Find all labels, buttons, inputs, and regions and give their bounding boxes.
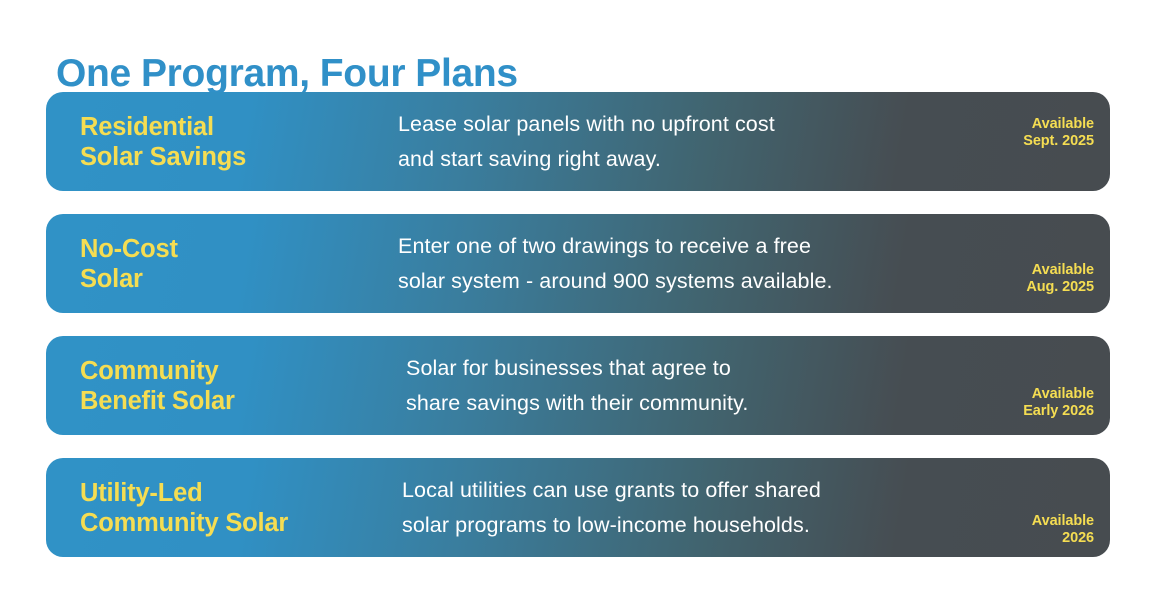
plan-card-title: Community Benefit Solar	[46, 356, 396, 416]
plan-card-title: Utility-Led Community Solar	[46, 478, 396, 538]
plan-card[interactable]: Community Benefit Solar Solar for busine…	[46, 336, 1110, 435]
plan-card-title: No-Cost Solar	[46, 234, 396, 294]
plan-card-availability-badge: Available Early 2026	[978, 352, 1110, 420]
page-title-word-four: Four	[320, 52, 405, 95]
page-title-word-one: One	[56, 52, 131, 95]
plan-card-description: Lease solar panels with no upfront cost …	[396, 107, 978, 177]
plan-card-availability-badge: Available 2026	[978, 469, 1110, 547]
plan-card-description: Local utilities can use grants to offer …	[396, 473, 978, 543]
plan-card-title: Residential Solar Savings	[46, 112, 396, 172]
plan-card-description: Solar for businesses that agree to share…	[396, 351, 978, 421]
plan-card[interactable]: Residential Solar Savings Lease solar pa…	[46, 92, 1110, 191]
page-title-word-program: Program,	[141, 52, 310, 95]
plan-card[interactable]: No-Cost Solar Enter one of two drawings …	[46, 214, 1110, 313]
plan-card-availability-badge: Available Aug. 2025	[978, 232, 1110, 296]
infographic-page: OneProgram,FourPlans Residential Solar S…	[0, 0, 1155, 616]
plan-card[interactable]: Utility-Led Community Solar Local utilit…	[46, 458, 1110, 557]
page-title-word-plans: Plans	[415, 52, 518, 95]
plan-card-availability-badge: Available Sept. 2025	[978, 116, 1110, 168]
plan-card-description: Enter one of two drawings to receive a f…	[396, 229, 978, 299]
plan-card-list: Residential Solar Savings Lease solar pa…	[46, 92, 1110, 557]
